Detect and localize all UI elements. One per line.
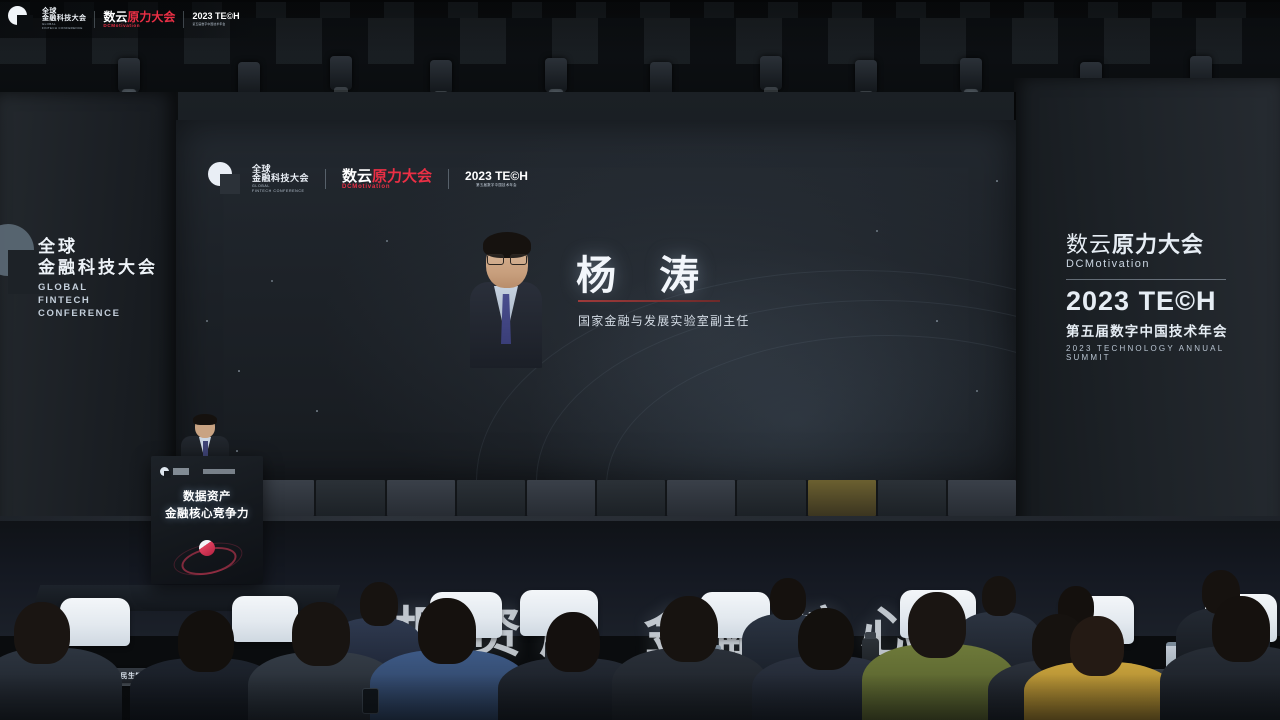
right-sign-cn-suffix: 原力大会 [1112,232,1204,257]
screen-gfc-cn-line2: 金融科技大会 [252,174,309,183]
attendee-head [1070,616,1124,676]
attendee-head [14,602,70,664]
overlay-dm-cn-suffix: 原力大会 [127,10,175,24]
stage-light [238,62,260,96]
speaker-portrait [468,232,544,368]
right-sign-tech-cn: 第五届数字中国技术年会 [1066,320,1266,340]
overlay-gfc-cn-line1: 全球 [42,8,86,15]
screen-gfc-en-line2: FINTECH CONFERENCE [252,190,309,194]
screen-logo-divider [325,169,326,189]
attendee-head [982,576,1016,616]
podium-logo-text-secondary [203,469,235,474]
screen-lower-panels [176,480,1016,516]
screen-panel [808,480,876,516]
stage-light [118,58,140,92]
screen-logo-bar: 全球 金融科技大会 GLOBAL FINTECH CONFERENCE 数云原力… [208,162,528,196]
stage-light [430,60,452,94]
screen-dm-block: 数云原力大会 DCMotivation [342,169,432,190]
chair [60,598,130,646]
podium-title: 数据资产 金融核心竞争力 [151,489,263,522]
left-sign-cn-line1: 全球 [38,236,158,257]
screen-panel [457,480,525,516]
screen-panel [387,480,455,516]
left-sign-english: GLOBAL FINTECH CONFERENCE [38,282,170,320]
screen-panel [597,480,665,516]
attendee-head [1212,596,1270,662]
fintech-logo-icon [0,224,38,296]
right-sign-tech-year: 2023 TE©H [1066,288,1266,315]
overlay-tech-year: 2023 TE©H [192,12,239,21]
attendee-head [292,602,350,666]
attendee-foreground [1160,646,1280,720]
screen-panel [737,480,805,516]
fintech-logo-icon [208,162,242,196]
attendee-head [660,596,718,662]
chair [232,596,298,642]
podium-logo-text [173,468,189,475]
attendee-head [178,610,234,672]
overlay-dm-cn: 数云原力大会 [103,11,175,23]
audience-area: 中国民生银行 中国进出口银行 中信银行 [0,540,1280,720]
stage-light [855,60,877,94]
screen-panel [316,480,384,516]
screen-panel [527,480,595,516]
overlay-divider [183,11,184,28]
screen-tech-year: 2023 TE©H [465,170,528,182]
speaker-name-divider [578,300,720,302]
overlay-gfc-text: 全球 金融科技大会 GLOBAL FINTECH CONFERENCE [42,8,86,31]
screen-tech-sub: 第五届数字中国技术年会 [476,184,517,187]
stage-light [545,58,567,92]
left-sign-en-line2: FINTECH CONFERENCE [38,295,170,321]
attendee-head [908,592,966,658]
overlay-dm-cn-prefix: 数云 [103,10,127,24]
speaker-title: 国家金融与发展实验室副主任 [578,312,750,329]
attendee-head [418,598,476,664]
attendee-head [770,578,806,620]
overlay-gfc-en-line2: FINTECH CONFERENCE [42,27,86,30]
attendee-head [798,608,854,670]
left-sign-en-line1: GLOBAL [38,282,170,295]
screen-dm-cn-prefix: 数云 [342,168,372,185]
podium-logo [160,467,235,476]
right-sign-en: DCMotivation [1066,258,1266,270]
overlay-divider [94,11,95,28]
screen-gfc-text: 全球 金融科技大会 GLOBAL FINTECH CONFERENCE [252,165,309,194]
overlay-gfc-cn-line2: 金融科技大会 [42,15,86,22]
stage-light [960,58,982,92]
right-sign-tech-en: 2023 TECHNOLOGY ANNUAL SUMMIT [1066,344,1266,362]
smartphone [362,688,379,714]
conference-stage-scene: 全球 金融科技大会 GLOBAL FINTECH CONFERENCE 数云原力… [0,0,1280,720]
left-sign-cn-line2: 金融科技大会 [38,257,158,278]
stage-light [330,56,352,90]
screen-logo-divider [448,169,449,189]
right-sign-divider [1066,279,1226,280]
screen-tech-block: 2023 TE©H 第五届数字中国技术年会 [465,170,528,187]
fintech-logo-icon [160,467,169,476]
screen-panel [878,480,946,516]
speaker-name: 杨 涛 [576,243,715,301]
screen-panel [948,480,1016,516]
overlay-tech-block: 2023 TE©H 第五届数字中国技术年会 [192,12,239,26]
overlay-dm-block: 数云原力大会 DCMotivation [103,11,175,28]
screen-panel [667,480,735,516]
right-sign-title: 数云原力大会 [1066,234,1266,256]
fintech-logo-icon [8,6,34,32]
glasses-icon [487,254,527,264]
stage-light [650,62,672,96]
overlay-tech-sub: 第五届数字中国技术年会 [192,23,239,26]
podium-title-line1: 数据资产 [151,489,263,506]
screen-dm-cn-suffix: 原力大会 [372,168,432,185]
screen-dm-cn: 数云原力大会 [342,169,432,184]
screen-gfc-en-line1: GLOBAL [252,185,309,189]
broadcast-overlay-logo-bar: 全球 金融科技大会 GLOBAL FINTECH CONFERENCE 数云原力… [0,0,258,38]
stage-light [760,56,782,90]
attendee-head [546,612,600,672]
attendee-head [360,582,398,626]
right-wall-sign: 数云原力大会 DCMotivation 2023 TE©H 第五届数字中国技术年… [1066,234,1266,362]
right-sign-cn-prefix: 数云 [1066,232,1112,257]
podium-title-line2: 金融核心竞争力 [151,506,263,523]
left-sign-chinese: 全球 金融科技大会 [38,236,158,279]
